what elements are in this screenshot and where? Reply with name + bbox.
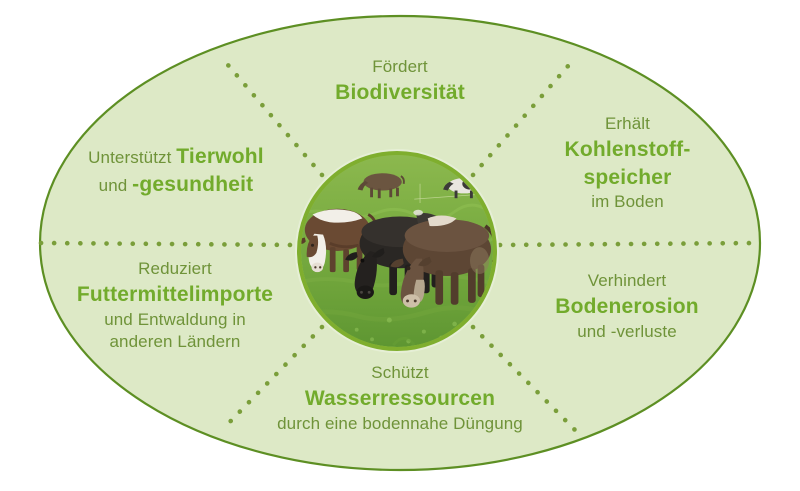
label-animal-welfare-line1: Unterstützt Tierwohl bbox=[40, 143, 312, 171]
label-animal-welfare-line2: und -gesundheit bbox=[40, 171, 312, 199]
central-photo-cows-grazing bbox=[297, 151, 497, 351]
label-soil-erosion-line1: Verhindert bbox=[492, 270, 762, 293]
label-soil-erosion-line2: Bodenerosion bbox=[492, 293, 762, 321]
label-water-resources-line3: durch eine bodennahe Düngung bbox=[240, 413, 560, 436]
label-animal-welfare-line2-text: und bbox=[99, 176, 133, 195]
label-feed-imports: Reduziert Futtermittelimporte und Entwal… bbox=[36, 258, 314, 354]
cows-pasture-illustration bbox=[301, 155, 493, 347]
label-soil-erosion: Verhindert Bodenerosion und -verluste bbox=[492, 270, 762, 343]
label-feed-imports-line3: und Entwaldung in bbox=[36, 309, 314, 332]
label-carbon-storage-line1: Erhält bbox=[495, 113, 760, 136]
label-animal-welfare-line1-text: Unterstützt bbox=[88, 148, 171, 167]
label-biodiversity-line1: Fördert bbox=[250, 56, 550, 79]
label-carbon-storage-line3: speicher bbox=[495, 164, 760, 192]
label-water-resources-line2: Wasserressourcen bbox=[240, 385, 560, 413]
label-animal-welfare-line1-bold: Tierwohl bbox=[176, 145, 264, 168]
label-feed-imports-line4: anderen Ländern bbox=[36, 331, 314, 354]
label-carbon-storage-line2: Kohlenstoff- bbox=[495, 136, 760, 164]
label-carbon-storage: Erhält Kohlenstoff- speicher im Boden bbox=[495, 113, 760, 214]
infographic-canvas: Fördert Biodiversität Unterstützt Tierwo… bbox=[0, 0, 800, 491]
label-carbon-storage-line4: im Boden bbox=[495, 191, 760, 214]
label-animal-welfare-line2-bold: -gesundheit bbox=[132, 173, 253, 196]
label-biodiversity: Fördert Biodiversität bbox=[250, 56, 550, 107]
label-water-resources-line1: Schützt bbox=[240, 362, 560, 385]
label-soil-erosion-line3: und -verluste bbox=[492, 321, 762, 344]
label-animal-welfare: Unterstützt Tierwohl und -gesundheit bbox=[40, 143, 312, 199]
label-feed-imports-line1: Reduziert bbox=[36, 258, 314, 281]
label-water-resources: Schützt Wasserressourcen durch eine bode… bbox=[240, 362, 560, 435]
label-biodiversity-line2: Biodiversität bbox=[250, 79, 550, 107]
label-feed-imports-line2: Futtermittelimporte bbox=[36, 281, 314, 309]
